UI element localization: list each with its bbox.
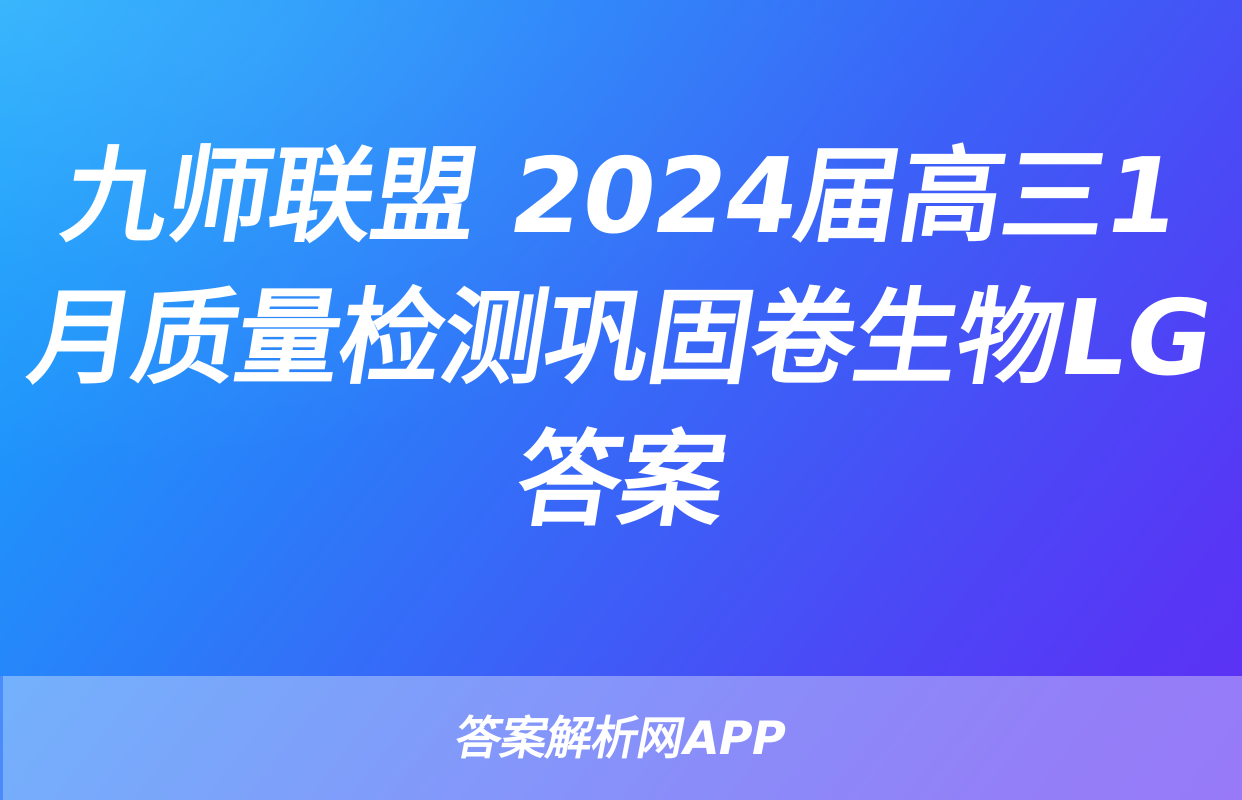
- band-left-edge: [0, 676, 3, 800]
- promo-banner: 九师联盟 2024届高三1 月质量检测巩固卷生物LG 答案 答案解析网APP: [0, 0, 1242, 800]
- title-line-3: 答案: [15, 409, 1227, 551]
- title-line-1: 九师联盟 2024届高三1: [15, 125, 1227, 267]
- watermark-band: 答案解析网APP: [0, 676, 1242, 800]
- title-line-2: 月质量检测巩固卷生物LG: [15, 267, 1227, 409]
- title-block: 九师联盟 2024届高三1 月质量检测巩固卷生物LG 答案: [0, 0, 1242, 676]
- app-watermark-label: 答案解析网APP: [452, 715, 790, 761]
